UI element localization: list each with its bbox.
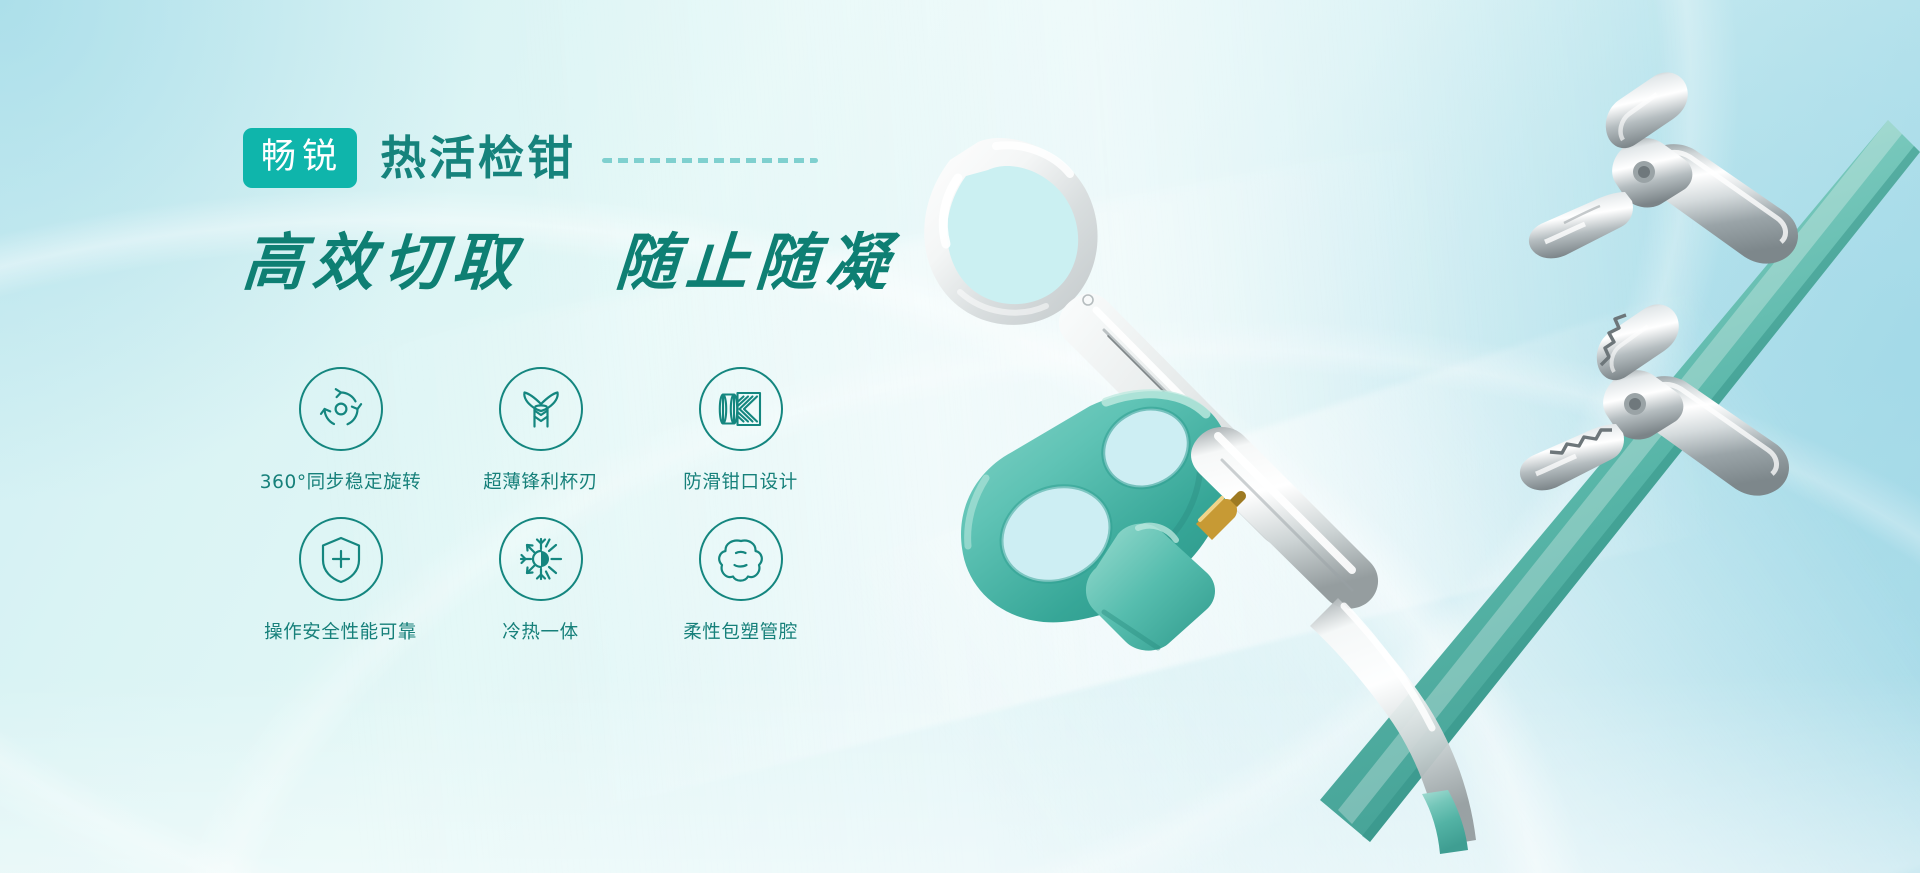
feature-label: 防滑钳口设计 xyxy=(683,468,798,494)
feature-item-safety: 操作安全性能可靠 xyxy=(243,517,438,667)
brand-badge: 畅锐 xyxy=(243,128,357,188)
smooth-cup-forceps-assembly xyxy=(1529,72,1798,263)
feature-label: 超薄锋利杯刃 xyxy=(483,468,598,494)
feature-grid: 360°同步稳定旋转 超薄锋利杯刃 xyxy=(243,367,838,667)
hot-cold-icon xyxy=(499,517,583,601)
tagline-part-1: 高效切取 xyxy=(240,226,525,299)
feature-item-rotation: 360°同步稳定旋转 xyxy=(243,367,438,517)
serrated-jaw-upper xyxy=(1597,304,1679,380)
feature-label: 冷热一体 xyxy=(502,618,578,644)
tagline: 高效切取 随止随凝 xyxy=(240,212,900,302)
anti-slip-jaw-icon xyxy=(699,367,783,451)
feature-label: 360°同步稳定旋转 xyxy=(260,468,422,494)
product-image xyxy=(900,0,1920,873)
rotation-360-icon xyxy=(299,367,383,451)
product-banner: 畅锐 热活检钳 高效切取 随止随凝 xyxy=(0,0,1920,873)
title-row: 畅锐 热活检钳 xyxy=(243,128,818,188)
flexible-lumen-icon xyxy=(699,517,783,601)
tagline-part-2: 随止随凝 xyxy=(613,226,898,299)
feature-item-antislip: 防滑钳口设计 xyxy=(643,367,838,517)
page-title: 热活检钳 xyxy=(380,135,576,181)
sharp-cup-blade-icon xyxy=(499,367,583,451)
feature-item-lumen: 柔性包塑管腔 xyxy=(643,517,838,667)
feature-item-blade: 超薄锋利杯刃 xyxy=(443,367,638,517)
banner-content: 畅锐 热活检钳 高效切取 随止随凝 xyxy=(0,0,900,873)
shield-plus-icon xyxy=(299,517,383,601)
feature-label: 柔性包塑管腔 xyxy=(683,618,798,644)
feature-item-hotcold: 冷热一体 xyxy=(443,517,638,667)
dotted-rule-decoration xyxy=(602,158,818,163)
feature-label: 操作安全性能可靠 xyxy=(264,618,417,644)
